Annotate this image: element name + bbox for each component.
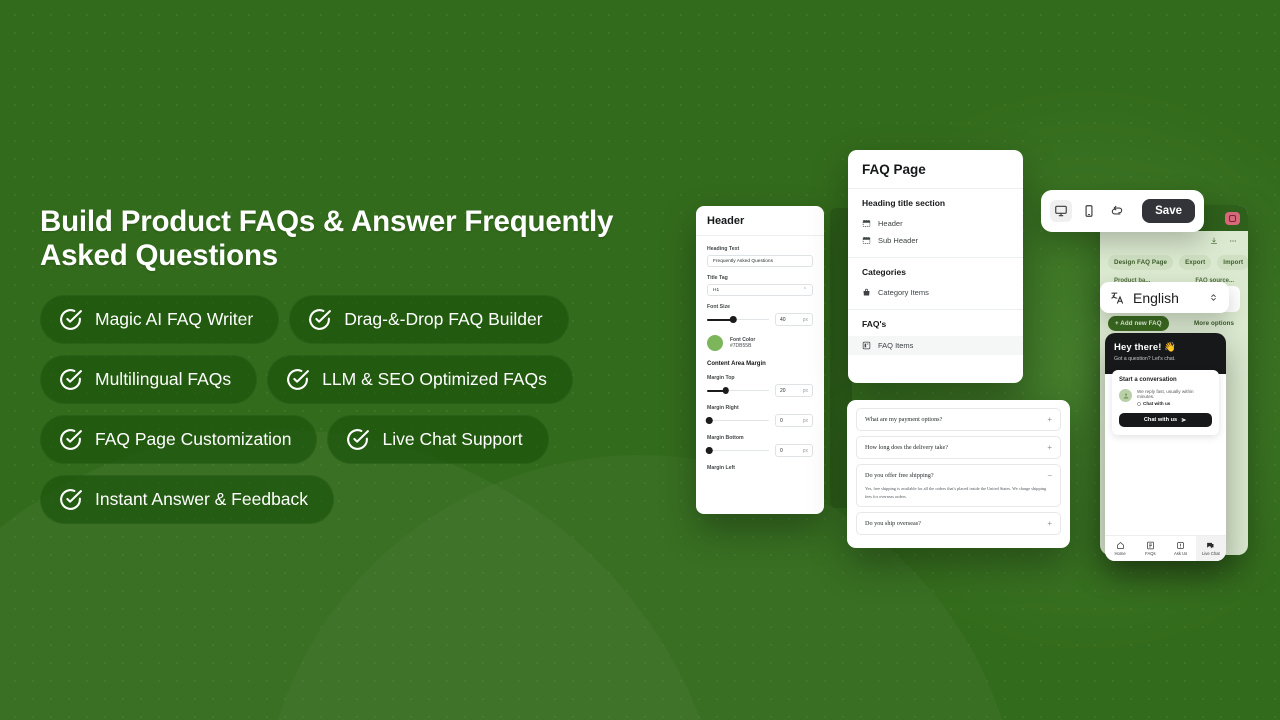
undo-icon	[1110, 204, 1124, 218]
start-conversation-card: Start a conversation We reply fast, usua…	[1112, 370, 1219, 435]
title-tag-select[interactable]: H1 ⌃	[707, 284, 813, 296]
chat-with-us-button[interactable]: Chat with us	[1119, 413, 1212, 427]
slider-knob[interactable]	[706, 417, 713, 424]
margin-top-unit: px	[803, 388, 808, 394]
title-tag-field-group: Title Tag H1 ⌃	[707, 275, 813, 296]
stepper-caret-icon: ⌃	[803, 287, 807, 293]
faq-page-panel: FAQ Page Heading title section Header Su…	[848, 150, 1023, 383]
chat-nav-home[interactable]: Home	[1105, 536, 1135, 561]
chat-greeting: Hey there! 👋	[1114, 342, 1217, 353]
more-options-button[interactable]: More options	[1188, 316, 1240, 331]
faq-accordion-preview: What are my payment options? + How long …	[847, 400, 1070, 548]
layout-top-icon	[862, 219, 871, 228]
slider-knob[interactable]	[730, 316, 737, 323]
agent-reply-time: We reply fast, usually within minutes.	[1137, 389, 1212, 399]
expand-toggle-icon[interactable]: +	[1047, 415, 1052, 424]
desktop-icon	[1054, 204, 1068, 218]
agent-row: We reply fast, usually within minutes. C…	[1119, 389, 1212, 406]
margin-right-unit: px	[803, 418, 808, 424]
export-button[interactable]: Export	[1179, 255, 1211, 270]
more-dots-icon[interactable]	[1228, 237, 1238, 245]
expand-toggle-icon[interactable]: +	[1047, 519, 1052, 528]
chat-nav-live-chat[interactable]: Live Chat	[1196, 536, 1226, 561]
accordion-item[interactable]: Do you ship overseas? +	[856, 512, 1061, 535]
nav-item-label: FAQ Items	[878, 341, 913, 350]
margin-top-label: Margin Top	[707, 375, 813, 381]
heading-title-section: Heading title section Header Sub Header	[848, 189, 1023, 253]
mobile-view-button[interactable]	[1078, 200, 1100, 222]
font-size-input[interactable]: 40 px	[775, 313, 813, 326]
nav-item-header[interactable]: Header	[862, 215, 1009, 232]
heading-text-field-group: Heading Text Frequently Asked Questions	[707, 246, 813, 267]
promo-banner: Build Product FAQs & Answer Frequently A…	[0, 0, 1280, 720]
live-chat-widget: Hey there! 👋 Got a question? Let's chat.…	[1105, 333, 1226, 561]
home-icon	[1116, 541, 1125, 550]
start-conversation-title: Start a conversation	[1119, 377, 1212, 383]
margin-bottom-value: 0	[780, 448, 783, 454]
close-button[interactable]	[1225, 212, 1240, 225]
agent-action-label: Chat with us	[1137, 401, 1212, 406]
font-size-slider-row: 40 px	[707, 313, 813, 326]
content-area-margin-heading: Content Area Margin	[707, 361, 813, 367]
bag-icon	[862, 288, 871, 297]
avatar	[1119, 389, 1132, 402]
slider-track	[707, 450, 769, 451]
accordion-item[interactable]: What are my payment options? +	[856, 408, 1061, 431]
admin-sub-action-row: + Add new FAQ More options	[1108, 312, 1240, 335]
categories-section: Categories Category Items	[848, 257, 1023, 305]
slider-track	[707, 420, 769, 421]
faqs-section: FAQ's FAQ Items	[848, 309, 1023, 359]
nav-item-sub-header[interactable]: Sub Header	[862, 232, 1009, 249]
title-tag-label: Title Tag	[707, 275, 813, 281]
product-screenshot-cluster: Design FAQ Page Export Import + Add FAQ …	[0, 0, 1280, 720]
agent-action-text: Chat with us	[1143, 401, 1170, 406]
mobile-icon	[1082, 204, 1096, 218]
nav-item-label: Header	[878, 219, 903, 228]
margin-bottom-unit: px	[803, 448, 808, 454]
accordion-question: What are my payment options?	[865, 416, 942, 423]
chat-bubble-icon	[1137, 402, 1141, 406]
margin-top-slider-row: 20 px	[707, 384, 813, 397]
admin-action-row: Design FAQ Page Export Import + Add FAQ …	[1100, 251, 1248, 274]
font-size-unit: px	[803, 317, 808, 323]
accordion-answer: Yes, free shipping is available for all …	[865, 485, 1052, 500]
accordion-question: Do you ship overseas?	[865, 520, 921, 527]
agent-text: We reply fast, usually within minutes. C…	[1137, 389, 1212, 406]
design-faq-page-button[interactable]: Design FAQ Page	[1108, 255, 1173, 270]
layout-top-icon	[862, 236, 871, 245]
margin-right-label: Margin Right	[707, 405, 813, 411]
margin-right-value: 0	[780, 418, 783, 424]
heading-text-input[interactable]: Frequently Asked Questions	[707, 255, 813, 267]
editor-toolbar: Save	[1041, 190, 1204, 232]
faq-page-title: FAQ Page	[848, 150, 1023, 189]
collapse-toggle-icon[interactable]: −	[1047, 471, 1052, 480]
nav-item-label: Category Items	[878, 288, 929, 297]
faq-icon	[1146, 541, 1155, 550]
chat-nav-label: FAQs	[1145, 551, 1155, 556]
chat-nav-ask-us[interactable]: Ask Us	[1166, 536, 1196, 561]
margin-bottom-slider-row: 0 px	[707, 444, 813, 457]
margin-right-input[interactable]: 0 px	[775, 414, 813, 427]
margin-top-slider[interactable]	[707, 386, 769, 396]
font-color-row[interactable]: Font Color #7DB55B	[707, 335, 813, 351]
chat-nav-label: Home	[1115, 551, 1126, 556]
undo-button[interactable]	[1106, 200, 1128, 222]
accordion-item[interactable]: How long does the delivery take? +	[856, 436, 1061, 459]
margin-top-value: 20	[780, 388, 786, 394]
font-size-label: Font Size	[707, 304, 813, 310]
heading-text-value: Frequently Asked Questions	[713, 259, 773, 264]
margin-left-label: Margin Left	[707, 465, 813, 471]
section-heading: FAQ's	[862, 319, 1009, 329]
chat-icon	[1206, 541, 1215, 550]
expand-toggle-icon[interactable]: +	[1047, 443, 1052, 452]
admin-window-subbar	[1100, 231, 1248, 251]
add-new-faq-button[interactable]: + Add new FAQ	[1108, 316, 1169, 331]
chat-subtitle: Got a question? Let's chat.	[1114, 356, 1217, 362]
font-size-slider[interactable]	[707, 315, 769, 325]
margin-right-slider-row: 0 px	[707, 414, 813, 427]
desktop-view-button[interactable]	[1050, 200, 1072, 222]
user-icon	[1122, 392, 1130, 400]
language-selector[interactable]: English	[1100, 282, 1229, 313]
accordion-question: How long does the delivery take?	[865, 444, 948, 451]
nav-item-category-items[interactable]: Category Items	[862, 284, 1009, 301]
ask-icon	[1176, 541, 1185, 550]
accordion-item-expanded[interactable]: Do you offer free shipping? − Yes, free …	[856, 464, 1061, 507]
margin-right-group: Margin Right 0 px	[707, 405, 813, 427]
send-icon	[1181, 417, 1187, 423]
margin-bottom-label: Margin Bottom	[707, 435, 813, 441]
save-button[interactable]: Save	[1142, 199, 1195, 223]
chat-nav-label: Ask Us	[1174, 551, 1187, 556]
accordion-question: Do you offer free shipping?	[865, 472, 934, 479]
margin-bottom-group: Margin Bottom 0 px	[707, 435, 813, 457]
color-swatch[interactable]	[707, 335, 723, 351]
margin-top-group: Margin Top 20 px	[707, 375, 813, 397]
font-size-group: Font Size 40 px	[707, 304, 813, 326]
title-tag-value: H1	[713, 288, 719, 293]
font-color-value: #7DB55B	[730, 343, 755, 349]
translate-icon	[1110, 290, 1125, 305]
stepper-caret-icon[interactable]	[1208, 291, 1219, 304]
margin-right-slider[interactable]	[707, 416, 769, 426]
slider-knob[interactable]	[706, 447, 713, 454]
nav-item-label: Sub Header	[878, 236, 918, 245]
margin-bottom-slider[interactable]	[707, 446, 769, 456]
accordion-question-row[interactable]: What are my payment options? +	[865, 415, 1052, 424]
margin-bottom-input[interactable]: 0 px	[775, 444, 813, 457]
margin-top-input[interactable]: 20 px	[775, 384, 813, 397]
chat-bottom-nav: Home FAQs Ask Us Live Chat	[1105, 535, 1226, 561]
accordion-question-row[interactable]: Do you ship overseas? +	[865, 519, 1052, 528]
chat-cta-label: Chat with us	[1144, 417, 1177, 423]
accordion-question-row[interactable]: How long does the delivery take? +	[865, 443, 1052, 452]
slider-knob[interactable]	[722, 387, 729, 394]
chat-nav-faqs[interactable]: FAQs	[1135, 536, 1165, 561]
download-icon[interactable]	[1210, 237, 1218, 245]
nav-item-faq-items[interactable]: FAQ Items	[848, 336, 1023, 355]
accordion-question-row[interactable]: Do you offer free shipping? −	[865, 471, 1052, 480]
language-value: English	[1133, 290, 1179, 306]
section-heading: Heading title section	[862, 198, 1009, 208]
panel-title: Header	[696, 206, 824, 236]
chat-header: Hey there! 👋 Got a question? Let's chat.	[1105, 333, 1226, 374]
list-box-icon	[862, 341, 871, 350]
heading-text-label: Heading Text	[707, 246, 813, 252]
import-button[interactable]: Import	[1217, 255, 1248, 270]
section-heading: Categories	[862, 267, 1009, 277]
header-settings-body: Heading Text Frequently Asked Questions …	[696, 236, 824, 471]
font-size-value: 40	[780, 317, 786, 323]
header-settings-panel: Header Heading Text Frequently Asked Que…	[696, 206, 824, 514]
chat-nav-label: Live Chat	[1202, 551, 1220, 556]
